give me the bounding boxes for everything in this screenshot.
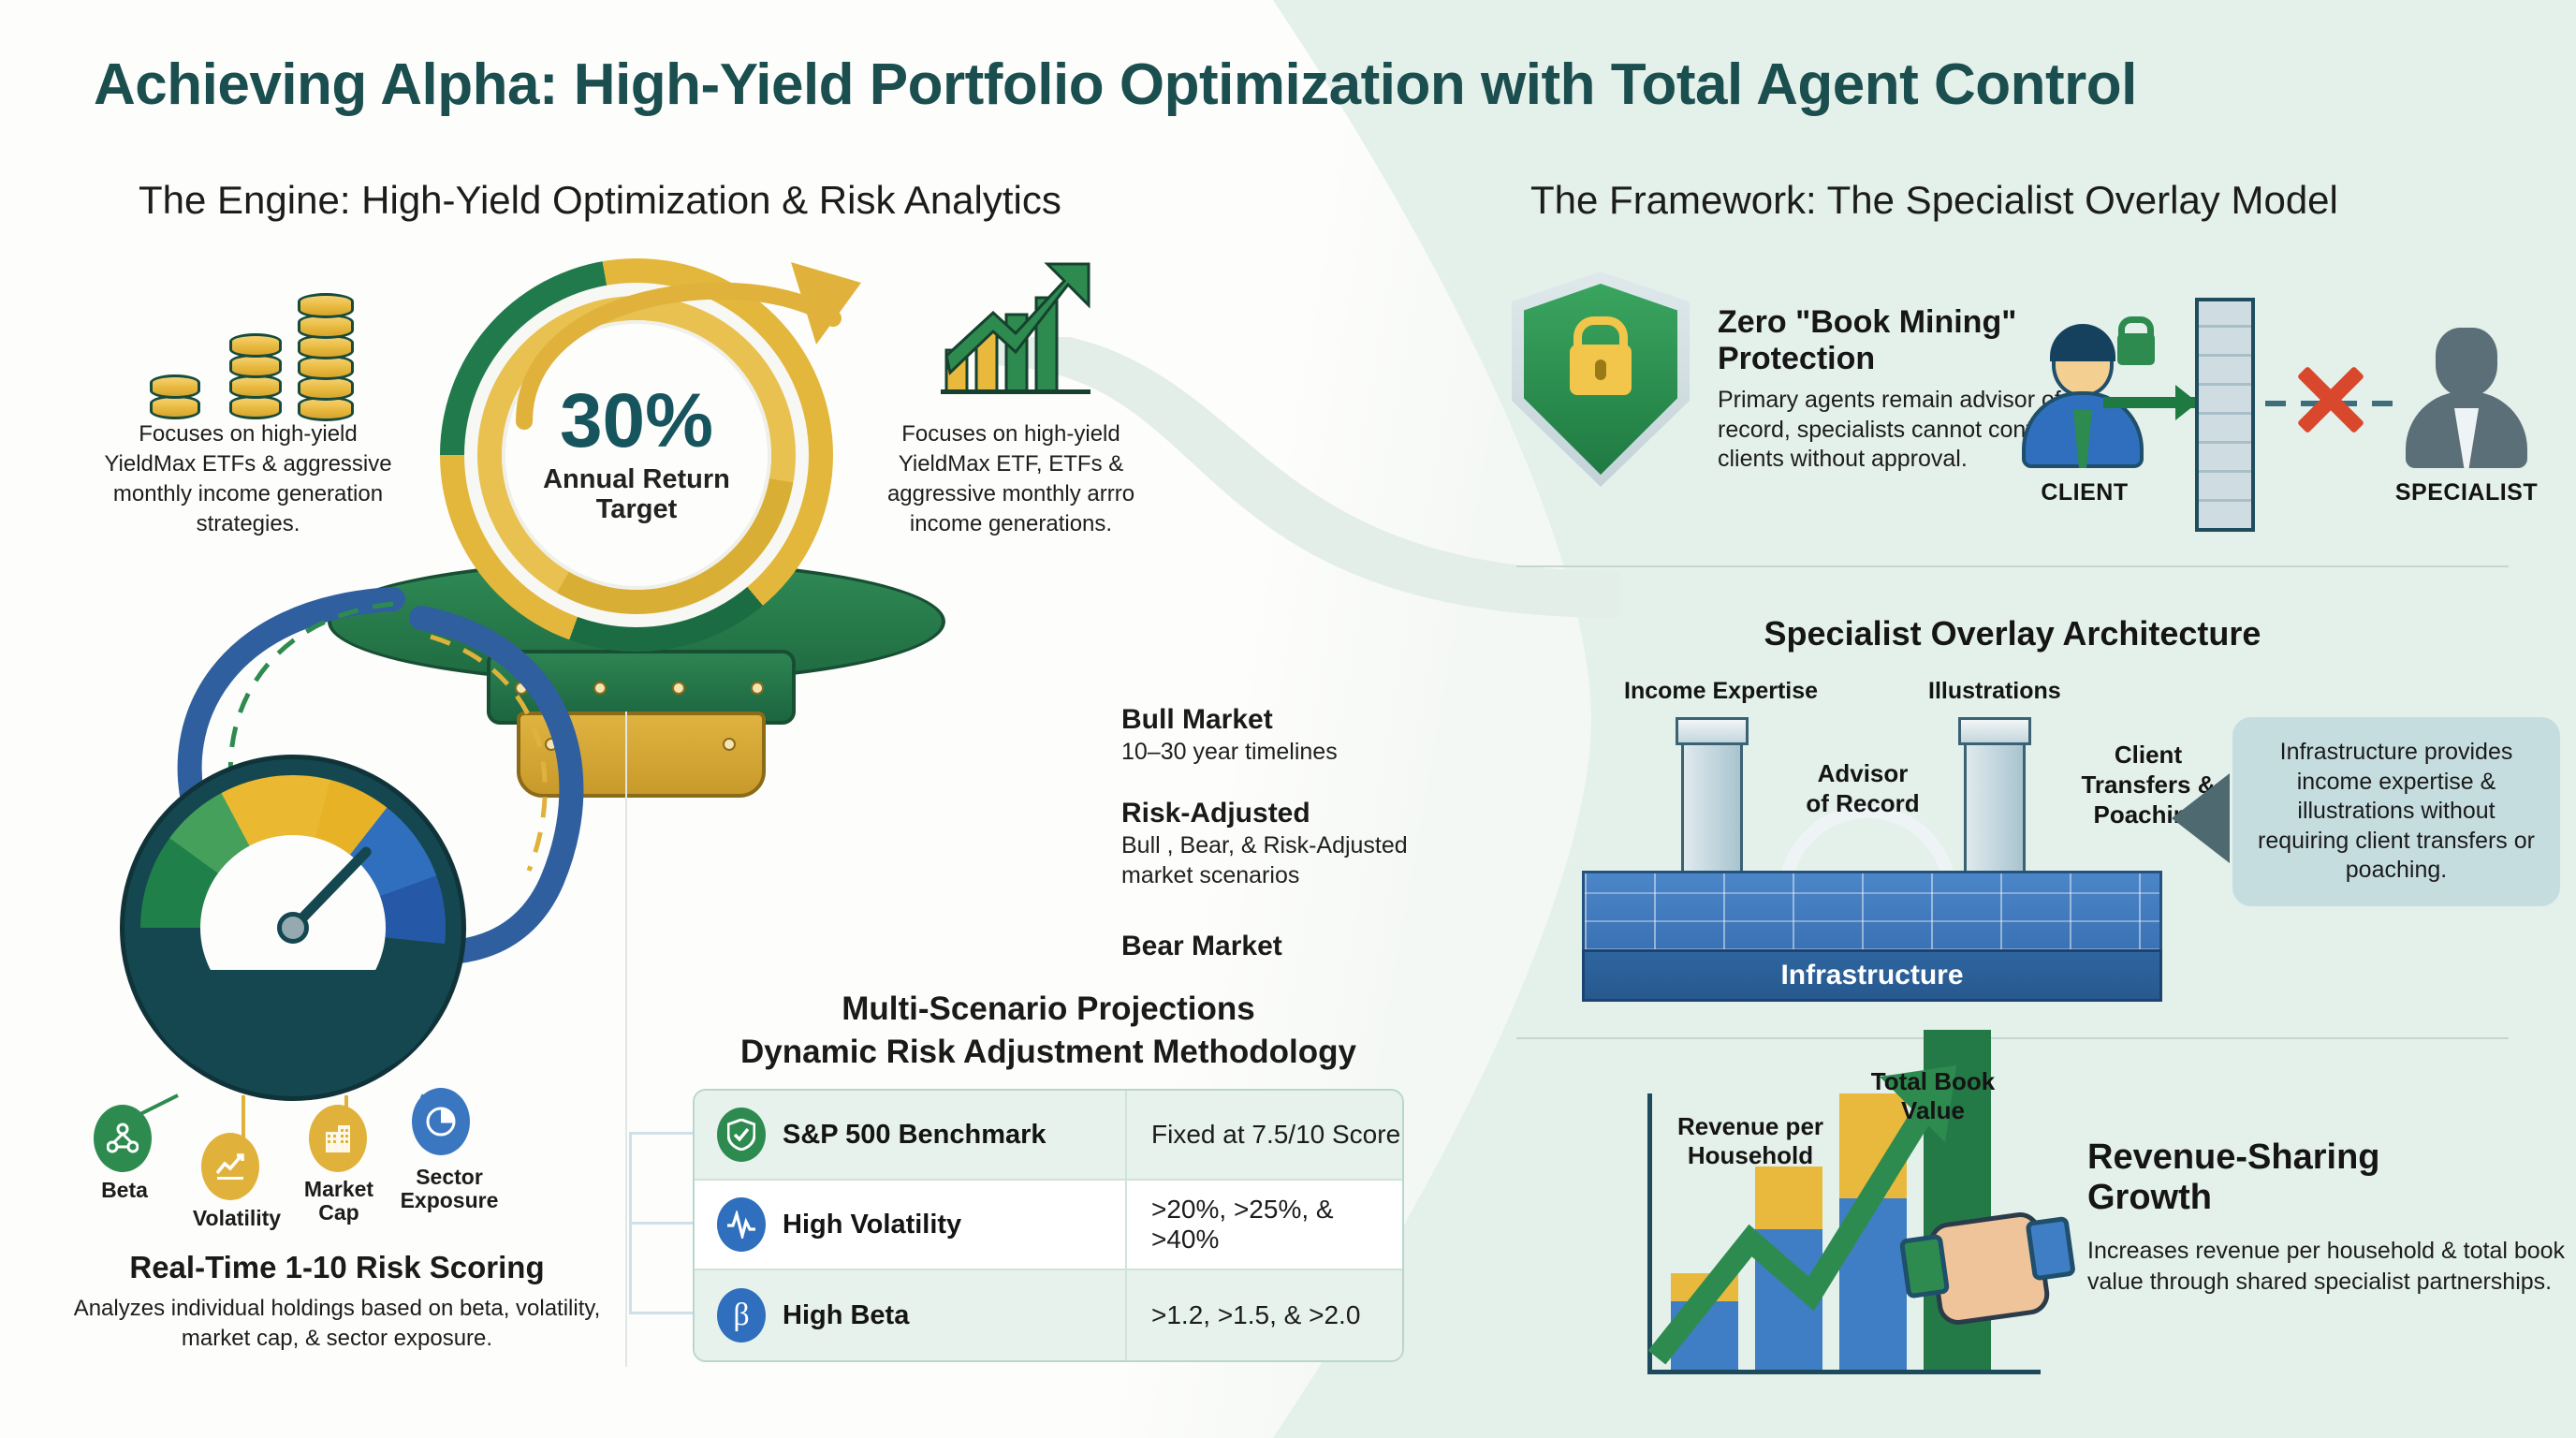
book-mining-title-line2: Protection [1718,341,1875,376]
firewall-barrier [2195,298,2255,532]
scenario-bull-detail: 10–30 year timelines [1121,738,1338,768]
gauge-hub [277,912,309,944]
scenario-bear: Bear Market [1121,931,1282,962]
table-brace-spine [629,1132,632,1312]
pillar-label-illustrations: Illustrations [1928,678,2061,705]
platform-label: Infrastructure [1582,949,2162,1002]
shield-check-icon [717,1108,766,1162]
metric-icon-market-cap [309,1105,367,1172]
client-label: CLIENT [2028,479,2141,506]
metric-icon-beta [94,1105,152,1172]
advisor-line2: of Record [1806,789,1919,817]
infographic-canvas: Achieving Alpha: High-Yield Portfolio Op… [0,0,2576,1438]
architecture-heading: Specialist Overlay Architecture [1591,614,2434,653]
scenario-risk-adjusted-detail: Bull , Bear, & Risk-Adjusted market scen… [1121,831,1454,890]
scenario-bull-heading: Bull Market [1121,704,1338,736]
callout-arrow [2172,773,2230,863]
dial-caption-line2: Target [596,494,677,524]
metric-label-volatility: Volatility [167,1206,307,1231]
metric-label-sector-exposure: Sector Exposure [393,1166,505,1213]
metric-icon-sector-exposure [412,1088,470,1155]
table-cell-label: S&P 500 Benchmark [783,1120,1046,1151]
revenue-label-1-line2: Household [1688,1141,1813,1169]
metric-icon-volatility [201,1133,259,1200]
padlock-icon [1570,345,1632,395]
revenue-label-2-line1: Total Book [1871,1067,1995,1095]
revenue-sharing-title: Revenue-Sharing Growth [2087,1137,2574,1219]
table-cell-value: Fixed at 7.5/10 Score [1125,1091,1402,1179]
return-target-dial: 30% Annual Return Target [440,258,833,652]
advisor-of-record-label: Advisor of Record [1778,758,1947,818]
pillar-label-income-expertise: Income Expertise [1624,678,1818,705]
revenue-title-line2: Growth [2087,1178,2212,1217]
table-row[interactable]: S&P 500 Benchmark Fixed at 7.5/10 Score [695,1091,1402,1181]
metric-label-beta: Beta [73,1178,176,1203]
revenue-label-1-line1: Revenue per [1677,1112,1823,1140]
table-cell-value: >1.2, >1.5, & >2.0 [1125,1270,1402,1360]
blocked-line1: Client [2115,741,2182,769]
beta-symbol-icon: β [717,1288,766,1343]
dial-caption-line1: Annual Return [543,464,730,494]
volatility-pulse-icon [717,1197,766,1252]
book-mining-title-line1: Zero "Book Mining" [1718,304,2016,340]
right-divider-bottom [1516,1037,2509,1039]
scenario-risk-adjusted: Risk-Adjusted Bull , Bear, & Risk-Adjust… [1121,798,1458,890]
book-mining-title: Zero "Book Mining" Protection [1718,304,2055,378]
right-note-text: Focuses on high-yield YieldMax ETF, ETFs… [871,419,1151,540]
protection-shield-icon [1512,271,1690,487]
revenue-chart-label-2: Total Book Value [1849,1067,2017,1125]
building-icon [322,1123,354,1154]
right-panel-heading: The Framework: The Specialist Overlay Mo… [1530,178,2338,223]
scenario-bull: Bull Market 10–30 year timelines [1121,704,1338,768]
table-brace-2 [629,1222,693,1225]
projections-title-line2: Dynamic Risk Adjustment Methodology [674,1034,1423,1071]
allowed-arrow-icon [2103,397,2197,408]
advisor-line1: Advisor [1818,759,1909,787]
network-nodes-icon [107,1123,139,1154]
risk-scoring-title: Real-Time 1-10 Risk Scoring [56,1250,618,1285]
specialist-label: SPECIALIST [2378,479,2555,506]
revenue-sharing-description: Increases revenue per household & total … [2087,1236,2574,1297]
infrastructure-callout: Infrastructure provides income expertise… [2232,717,2560,906]
line-chart-icon [214,1151,246,1182]
risk-gauge [120,755,466,1101]
revenue-chart-label-1: Revenue per Household [1661,1112,1839,1170]
risk-scoring-description: Analyzes individual holdings based on be… [66,1294,608,1353]
handshake-icon [1926,1210,2052,1328]
table-row[interactable]: High Volatility >20%, >25%, & >40% [695,1181,1402,1270]
table-cell-label: High Beta [783,1300,909,1331]
projections-title-line1: Multi-Scenario Projections [711,990,1385,1028]
blocked-x-icon [2289,358,2373,442]
specialist-avatar [2406,328,2527,468]
left-panel-heading: The Engine: High-Yield Optimization & Ri… [139,178,1061,223]
column-divider [625,712,627,1367]
green-lock-icon [2117,333,2155,365]
table-cell-value: >20%, >25%, & >40% [1125,1181,1402,1269]
table-row[interactable]: β High Beta >1.2, >1.5, & >2.0 [695,1270,1402,1360]
risk-methodology-table: S&P 500 Benchmark Fixed at 7.5/10 Score … [693,1089,1404,1362]
infrastructure-platform: Infrastructure [1582,871,2162,1002]
table-brace-3 [629,1312,693,1314]
table-cell-label: High Volatility [783,1210,961,1240]
metric-label-market-cap: Market Cap [292,1178,386,1225]
pie-chart-icon [424,1105,458,1138]
scenario-risk-adjusted-heading: Risk-Adjusted [1121,798,1458,829]
left-note-text: Focuses on high-yield YieldMax ETFs & ag… [94,419,402,540]
revenue-label-2-line2: Value [1901,1096,1965,1124]
page-title: Achieving Alpha: High-Yield Portfolio Op… [94,51,2490,118]
growth-chart-icon [941,245,1119,395]
dial-value: 30% [560,385,713,459]
dial-core: 30% Annual Return Target [502,320,771,590]
table-brace-1 [629,1132,693,1135]
scenario-bear-heading: Bear Market [1121,931,1282,962]
revenue-title-line1: Revenue-Sharing [2087,1137,2380,1177]
right-divider-top [1516,565,2509,567]
